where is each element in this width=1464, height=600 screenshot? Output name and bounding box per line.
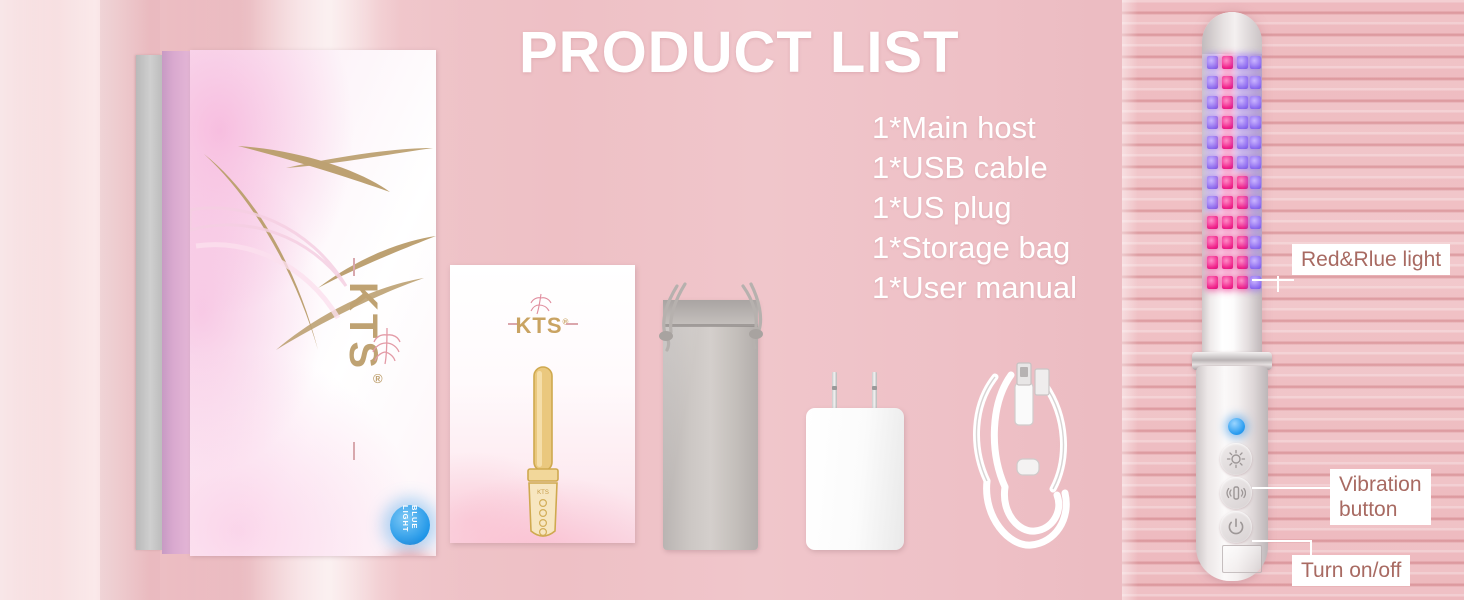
usb-cable xyxy=(965,355,1085,555)
led-lamp xyxy=(1250,276,1261,289)
led-lamp xyxy=(1250,136,1261,149)
led-column xyxy=(1222,56,1233,356)
manual-logo-dash-right xyxy=(566,323,578,325)
led-lamp xyxy=(1237,56,1248,69)
led-lamp xyxy=(1222,196,1233,209)
plug-prong xyxy=(872,372,877,412)
led-lamp xyxy=(1237,256,1248,269)
callout-vibration-button: Vibration button xyxy=(1330,469,1431,525)
led-lamp xyxy=(1207,236,1218,249)
led-lamp xyxy=(1222,256,1233,269)
led-lamp xyxy=(1222,96,1233,109)
sun-icon xyxy=(1226,449,1246,469)
led-lamp xyxy=(1237,116,1248,129)
led-lamp xyxy=(1207,216,1218,229)
manual-leaf-icon xyxy=(528,293,554,315)
led-lamp xyxy=(1250,76,1261,89)
plug-body xyxy=(806,408,904,550)
vibration-icon xyxy=(1226,483,1246,503)
led-lamp xyxy=(1237,216,1248,229)
user-manual: KTS® KTS xyxy=(450,265,635,543)
wand-illustration: KTS xyxy=(518,363,568,543)
product-box-spine xyxy=(162,51,190,554)
usb-cable-coil xyxy=(965,355,1085,555)
spec-list-item: 1*Storage bag xyxy=(872,228,1077,268)
wand-tip-cap xyxy=(1202,12,1262,54)
light-mode-button[interactable] xyxy=(1220,443,1252,475)
led-lamp xyxy=(1237,176,1248,189)
led-lamp xyxy=(1207,96,1218,109)
device-label-plate xyxy=(1222,545,1262,573)
callout-power-button: Turn on/off xyxy=(1292,555,1410,586)
spec-list-item: 1*User manual xyxy=(872,268,1077,308)
us-plug xyxy=(806,360,904,550)
led-lamp xyxy=(1222,276,1233,289)
product-box-side-panel xyxy=(136,55,162,550)
led-lamp xyxy=(1222,136,1233,149)
led-lamp xyxy=(1207,116,1218,129)
led-column xyxy=(1250,56,1261,356)
callout-leader-line xyxy=(1277,276,1279,292)
led-lamp xyxy=(1237,196,1248,209)
product-listing-image: PRODUCT LIST 1*Main host 1*USB cable 1*U… xyxy=(0,0,1464,600)
led-lamp xyxy=(1237,156,1248,169)
callout-red-blue-light: Red&Rlue light xyxy=(1292,244,1450,275)
spec-list-item: 1*USB cable xyxy=(872,148,1077,188)
callout-leader-line xyxy=(1252,279,1294,281)
plug-prong xyxy=(832,372,837,412)
svg-text:KTS: KTS xyxy=(537,490,549,496)
callout-leader-line xyxy=(1252,540,1312,542)
led-lamp xyxy=(1207,256,1218,269)
led-lamp xyxy=(1207,156,1218,169)
led-lamp xyxy=(1237,276,1248,289)
spec-list: 1*Main host 1*USB cable 1*US plug 1*Stor… xyxy=(872,108,1077,308)
led-lamp xyxy=(1222,56,1233,69)
led-lamp xyxy=(1222,216,1233,229)
leaf-icon xyxy=(370,326,404,366)
led-lamp xyxy=(1250,196,1261,209)
led-lamp xyxy=(1250,116,1261,129)
led-lamp xyxy=(1207,56,1218,69)
main-host-wand xyxy=(1178,0,1298,600)
led-lamp xyxy=(1222,156,1233,169)
drawstring-cords xyxy=(645,278,775,398)
power-button[interactable] xyxy=(1220,511,1252,543)
vibration-button[interactable] xyxy=(1220,477,1252,509)
led-lamp xyxy=(1250,256,1261,269)
led-lamp xyxy=(1222,76,1233,89)
logo-dash-top xyxy=(353,258,355,276)
product-box-front: KTS® BLUE LIGHT RED LIGHT xyxy=(190,50,436,556)
led-lamp xyxy=(1250,236,1261,249)
led-lamp xyxy=(1250,216,1261,229)
led-lamp xyxy=(1222,176,1233,189)
led-lamp xyxy=(1237,236,1248,249)
spec-list-item: 1*US plug xyxy=(872,188,1077,228)
led-column xyxy=(1207,56,1218,356)
led-lamp xyxy=(1237,76,1248,89)
led-lamp xyxy=(1250,56,1261,69)
logo-dash-bottom xyxy=(353,442,355,460)
power-icon xyxy=(1226,517,1246,537)
blue-light-badge: BLUE LIGHT xyxy=(390,505,430,545)
led-lamp xyxy=(1250,96,1261,109)
led-lamp xyxy=(1207,76,1218,89)
led-lamp xyxy=(1207,176,1218,189)
led-lamp xyxy=(1222,236,1233,249)
product-box: KTS® BLUE LIGHT RED LIGHT xyxy=(136,50,436,560)
led-column xyxy=(1237,56,1248,356)
led-lamp xyxy=(1250,176,1261,189)
gold-swoosh-artwork xyxy=(190,50,436,556)
led-lamp xyxy=(1237,136,1248,149)
wand-light-head xyxy=(1202,12,1262,364)
spec-list-item: 1*Main host xyxy=(872,108,1077,148)
slat-panel-edge-highlight xyxy=(1122,0,1138,600)
led-lamp xyxy=(1222,116,1233,129)
status-led-indicator xyxy=(1228,418,1245,435)
callout-leader-line xyxy=(1310,540,1312,556)
led-lamp xyxy=(1207,136,1218,149)
callout-leader-line xyxy=(1252,487,1332,489)
storage-bag xyxy=(645,278,775,550)
led-lamp xyxy=(1237,96,1248,109)
led-lamp xyxy=(1250,156,1261,169)
led-lamp xyxy=(1207,276,1218,289)
manual-brand-logo: KTS® xyxy=(450,313,635,339)
page-title: PRODUCT LIST xyxy=(519,24,960,82)
led-lamp xyxy=(1207,196,1218,209)
